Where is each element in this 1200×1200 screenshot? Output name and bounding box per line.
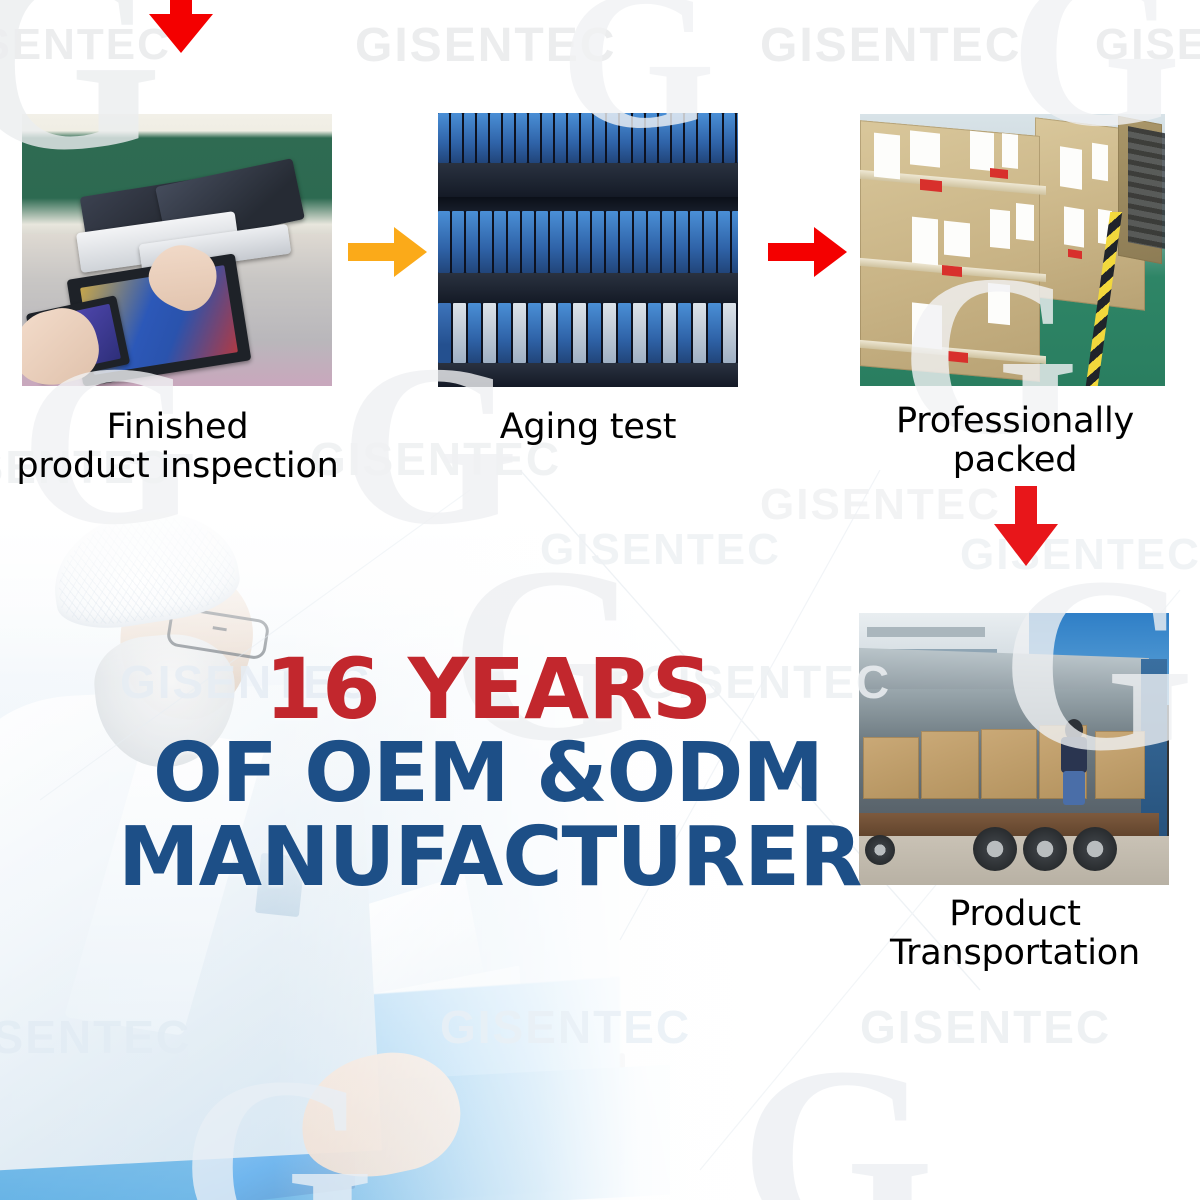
aging-shelf-edge [438, 197, 738, 211]
caption-line: Product [845, 895, 1185, 934]
infographic-page: GISENTEC GISENTEC GISENTEC GISENTEC GISE… [0, 0, 1200, 1200]
fragile-sticker [920, 179, 942, 192]
watermark-text: GISENTEC [760, 18, 1021, 73]
shipping-label [912, 217, 938, 266]
trailer-wheel [1073, 827, 1117, 871]
fragile-sticker [948, 351, 968, 363]
arrow-inspection-to-aging-icon [348, 226, 428, 278]
photo-finished-product-inspection [22, 114, 332, 386]
shipping-label [910, 130, 940, 167]
fragile-sticker [990, 168, 1008, 179]
caption-aging-test: Aging test [438, 408, 738, 447]
headline-years: 16 YEARS [118, 648, 858, 730]
trailer-wheel [865, 835, 895, 865]
caption-line: Finished [0, 408, 355, 447]
caption-line: product inspection [0, 447, 355, 486]
caption-product-transportation: Product Transportation [845, 895, 1185, 973]
shipping-label [1060, 146, 1082, 189]
transport-worker-torso [1061, 737, 1087, 773]
headline-block: 16 YEARS OF OEM &ODM MANUFACTURER [118, 648, 858, 900]
headline-oem-odm: OF OEM &ODM [118, 732, 858, 816]
caption-professionally-packed: Professionally packed [860, 402, 1170, 480]
transport-building-ledge [867, 627, 985, 637]
trailer-wheel [973, 827, 1017, 871]
headline-manufacturer: MANUFACTURER [118, 816, 858, 900]
cargo-box [921, 731, 979, 799]
caption-finished-product-inspection: Finished product inspection [0, 408, 355, 486]
watermark-text: GISENTEC [355, 18, 616, 73]
shipping-label [990, 209, 1010, 249]
aging-shelf [438, 273, 738, 303]
caption-line: Aging test [438, 408, 738, 447]
arrow-packed-to-transport-icon [990, 486, 1062, 568]
photo-aging-test [438, 113, 738, 387]
shipping-label [988, 283, 1010, 325]
arrow-into-inspection-icon [145, 0, 217, 55]
shipping-label [912, 302, 942, 349]
shipping-label [1064, 206, 1084, 247]
shipping-label [1016, 203, 1034, 241]
photo-product-transportation [859, 613, 1169, 885]
watermark-g-mark: G [740, 1030, 934, 1200]
shipping-label [944, 221, 970, 258]
shipping-label [970, 131, 994, 172]
transport-worker-legs [1063, 771, 1085, 805]
caption-line: packed [860, 441, 1170, 480]
aging-device-row [438, 113, 738, 163]
aging-shelf [438, 163, 738, 197]
cargo-box [1095, 731, 1145, 799]
caption-line: Transportation [845, 934, 1185, 973]
caption-line: Professionally [860, 402, 1170, 441]
cargo-box [863, 737, 919, 799]
cargo-box [981, 729, 1037, 799]
watermark-text: GISENTEC [760, 480, 1001, 530]
warehouse-shelving [1128, 126, 1165, 250]
watermark-text: GISENTEC [860, 1000, 1111, 1054]
aging-device-row [438, 211, 738, 273]
fragile-sticker [942, 265, 962, 277]
shipping-label [1002, 133, 1018, 169]
trailer-wheel [1023, 827, 1067, 871]
shipping-label [874, 133, 900, 180]
photo-professionally-packed [860, 114, 1165, 386]
aging-shelf [438, 363, 738, 387]
shipping-label [1092, 143, 1108, 182]
watermark-text: GISENTEC [1095, 20, 1200, 70]
arrow-aging-to-packed-icon [768, 226, 848, 278]
aging-device-row [438, 303, 738, 363]
